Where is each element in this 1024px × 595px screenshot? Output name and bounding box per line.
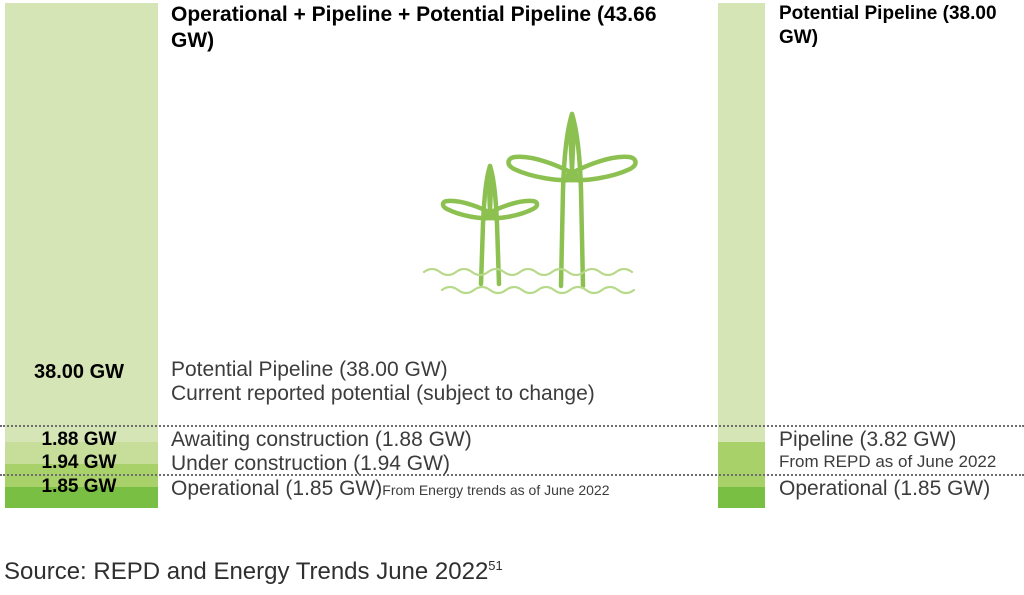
description-operational: Operational (1.85 GW)From Energy trends …: [171, 477, 610, 501]
description-operational-main: Operational (1.85 GW): [171, 477, 382, 500]
right-bar-segment-potential: [718, 3, 765, 442]
offshore-wind-turbines-icon: [412, 100, 662, 315]
divider-operational-top: [0, 474, 1024, 476]
heading-right: Potential Pipeline (38.00 GW): [779, 2, 1019, 50]
right-label-pipeline: Pipeline (3.82 GW): [779, 428, 956, 452]
heading-left: Operational + Pipeline + Potential Pipel…: [171, 2, 691, 55]
value-label-operational: 1.85 GW: [5, 476, 153, 498]
right-label-repd-note: From REPD as of June 2022: [779, 452, 996, 472]
value-label-awaiting: 1.88 GW: [5, 429, 153, 451]
description-operational-note: From Energy trends as of June 2022: [382, 482, 609, 498]
value-label-potential: 38.00 GW: [5, 361, 153, 384]
right-stacked-bar: [718, 3, 765, 508]
source-footnote: 51: [488, 558, 502, 573]
divider-pipeline-top: [0, 425, 1024, 427]
value-label-under: 1.94 GW: [5, 452, 153, 474]
description-awaiting: Awaiting construction (1.88 GW): [171, 428, 472, 452]
description-potential: Potential Pipeline (38.00 GW) Current re…: [171, 358, 595, 406]
source-text: Source: REPD and Energy Trends June 2022: [4, 558, 488, 585]
right-label-operational: Operational (1.85 GW): [779, 477, 990, 501]
description-under: Under construction (1.94 GW): [171, 452, 450, 476]
right-bar-segment-operational: [718, 487, 765, 508]
right-bar-segment-pipeline: [718, 442, 765, 486]
description-potential-line2: Current reported potential (subject to c…: [171, 382, 595, 406]
description-potential-line1: Potential Pipeline (38.00 GW): [171, 358, 595, 382]
source-line: Source: REPD and Energy Trends June 2022…: [4, 558, 503, 586]
